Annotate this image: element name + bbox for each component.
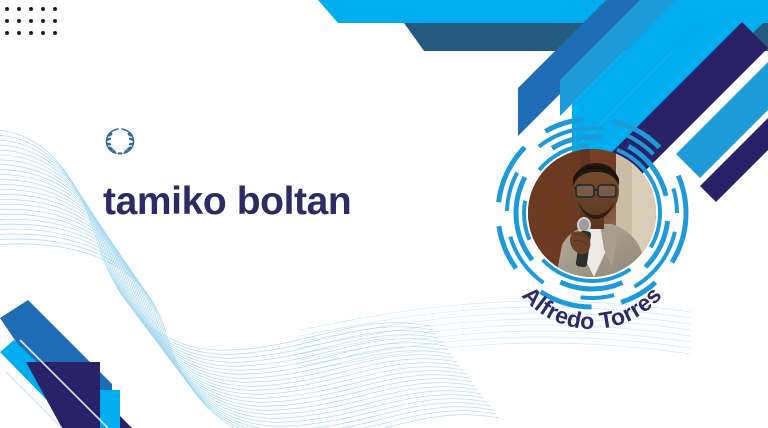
stripe-highlight-2 bbox=[6, 372, 62, 428]
grid-dot bbox=[5, 31, 9, 35]
title-block: tamiko boltan bbox=[103, 126, 483, 223]
stripe-bright-blue-2 bbox=[560, 0, 676, 116]
grid-dot bbox=[5, 7, 9, 11]
speaker-name: Alfredo Torres bbox=[490, 151, 694, 355]
bottom-left-stripes bbox=[0, 300, 132, 428]
grid-dot bbox=[29, 7, 33, 11]
stripe-highlight bbox=[20, 340, 108, 428]
grid-dot bbox=[53, 31, 57, 35]
grid-dot bbox=[17, 19, 21, 23]
stripe-medium-blue bbox=[0, 300, 112, 428]
grid-dot bbox=[53, 19, 57, 23]
stripe-cyan bbox=[0, 340, 104, 428]
cyan-band bbox=[318, 0, 768, 23]
stripe-navy bbox=[26, 362, 132, 428]
page-title: tamiko boltan bbox=[103, 182, 483, 223]
grid-dot bbox=[41, 31, 45, 35]
speaker-name-text: Alfredo Torres bbox=[517, 281, 666, 334]
speaker-portrait-block: Alfredo Torres bbox=[492, 113, 692, 313]
grid-dot bbox=[17, 31, 21, 35]
certificate-banner: tamiko boltan bbox=[0, 0, 768, 428]
grid-dot bbox=[29, 31, 33, 35]
grid-dot bbox=[17, 7, 21, 11]
steel-band bbox=[404, 23, 768, 51]
grid-dot bbox=[41, 19, 45, 23]
grid-dot bbox=[5, 19, 9, 23]
dot-grid-icon bbox=[5, 7, 69, 47]
laurel-wreath-icon bbox=[103, 126, 137, 156]
stripe-navy-2 bbox=[62, 362, 100, 428]
stripe-navy-2 bbox=[700, 118, 768, 202]
stripe-cyan-2 bbox=[100, 390, 120, 428]
grid-dot bbox=[41, 7, 45, 11]
grid-dot bbox=[53, 7, 57, 11]
grid-dot bbox=[29, 19, 33, 23]
